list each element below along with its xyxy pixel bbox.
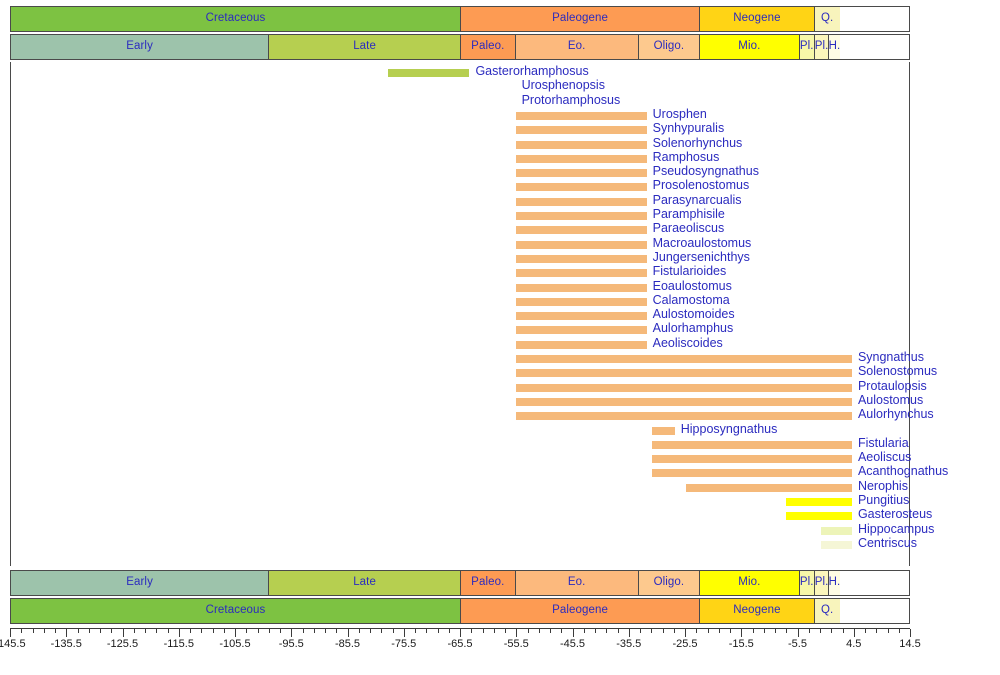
taxon-label: Hipposyngnathus — [681, 422, 778, 436]
axis-tick-minor — [224, 629, 225, 633]
taxon-range-row[interactable]: Pungitius — [11, 495, 909, 509]
epoch-label: Pl. — [800, 41, 814, 53]
taxon-range-row[interactable]: Solenorhynchus — [11, 138, 909, 152]
axis-tick-minor — [213, 629, 214, 633]
taxon-range-bar[interactable] — [516, 298, 647, 306]
epoch-label: Late — [353, 577, 376, 589]
taxon-range-row[interactable]: Acanthognathus — [11, 466, 909, 480]
taxon-range-bar[interactable] — [786, 498, 852, 506]
taxon-label: Hippocampus — [858, 522, 934, 536]
taxon-range-bar[interactable] — [516, 226, 647, 234]
axis-tick-major — [685, 629, 686, 637]
axis-tick-label: -15.5 — [729, 638, 754, 650]
axis-tick-minor — [33, 629, 34, 633]
axis-tick-minor — [505, 629, 506, 633]
taxon-range-row[interactable]: Protorhamphosus — [11, 95, 909, 109]
axis-tick-label: -45.5 — [560, 638, 585, 650]
epoch-label: Mio. — [738, 41, 760, 53]
taxon-label: Acanthognathus — [858, 464, 948, 478]
taxon-range-bar[interactable] — [652, 455, 852, 463]
taxon-range-row[interactable]: Solenostomus — [11, 366, 909, 380]
taxon-range-bar[interactable] — [516, 369, 852, 377]
epoch-label: H. — [829, 41, 841, 53]
taxon-range-row[interactable]: Synhypuralis — [11, 123, 909, 137]
taxon-label: Aulostomus — [858, 393, 923, 407]
taxon-range-bar[interactable] — [821, 541, 852, 549]
period-label: Cretaceous — [206, 13, 266, 25]
taxon-range-bar[interactable] — [516, 269, 647, 277]
axis-tick-minor — [201, 629, 202, 633]
axis-tick-major — [516, 629, 517, 637]
epoch-cell[interactable]: Pl. — [800, 571, 815, 595]
axis-tick-minor — [145, 629, 146, 633]
axis-tick-major — [66, 629, 67, 637]
taxon-range-row[interactable]: Aulorhamphus — [11, 323, 909, 337]
taxon-label: Macroaulostomus — [653, 236, 752, 250]
axis-tick-label: -55.5 — [504, 638, 529, 650]
epoch-label: H. — [829, 577, 841, 589]
period-cell[interactable]: Paleogene — [461, 599, 700, 623]
axis-tick-minor — [753, 629, 754, 633]
period-label: Q. — [821, 605, 833, 617]
epoch-label: Paleo. — [471, 577, 504, 589]
epoch-cell[interactable]: Late — [269, 571, 461, 595]
axis-tick-label: 4.5 — [846, 638, 861, 650]
taxon-label: Eoaulostomus — [653, 279, 732, 293]
period-strip-top: CretaceousPaleogeneNeogeneQ. — [10, 6, 910, 32]
taxon-range-row[interactable]: Ramphosus — [11, 152, 909, 166]
axis-tick-minor — [246, 629, 247, 633]
axis-tick-minor — [809, 629, 810, 633]
axis-tick-minor — [539, 629, 540, 633]
taxon-range-bar[interactable] — [652, 469, 852, 477]
taxon-label: Pseudosyngnathus — [653, 164, 759, 178]
taxon-label: Synhypuralis — [653, 121, 725, 135]
taxon-label: Aulostomoides — [653, 307, 735, 321]
axis-tick-label: -25.5 — [672, 638, 697, 650]
axis-tick-minor — [483, 629, 484, 633]
taxon-range-row[interactable]: Hippocampus — [11, 524, 909, 538]
axis-tick-label: -95.5 — [279, 638, 304, 650]
axis-tick-label: -115.5 — [164, 638, 194, 650]
epoch-label: Oligo. — [654, 41, 685, 53]
axis-tick-minor — [426, 629, 427, 633]
axis-tick-minor — [44, 629, 45, 633]
epoch-label: Eo. — [568, 577, 586, 589]
taxon-range-bar[interactable] — [516, 155, 647, 163]
taxon-range-bar[interactable] — [516, 341, 647, 349]
axis-tick-minor — [21, 629, 22, 633]
axis-tick-minor — [336, 629, 337, 633]
taxon-range-bar[interactable] — [516, 198, 647, 206]
epoch-strip-bottom: EarlyLatePaleo.Eo.Oligo.Mio.Pl.Pl.H. — [10, 570, 910, 596]
taxon-range-row[interactable]: Urosphenopsis — [11, 80, 909, 94]
taxon-range-bar[interactable] — [516, 255, 647, 263]
taxon-range-row[interactable]: Aulostomus — [11, 395, 909, 409]
period-cell[interactable]: Cretaceous — [11, 7, 461, 31]
taxon-label: Aulorhynchus — [858, 407, 934, 421]
taxon-range-row[interactable]: Gasterorhamphosus — [11, 66, 909, 80]
axis-tick-major — [348, 629, 349, 637]
taxon-label: Pungitius — [858, 493, 909, 507]
epoch-label: Paleo. — [471, 41, 504, 53]
axis-tick-minor — [876, 629, 877, 633]
axis-tick-minor — [314, 629, 315, 633]
axis-tick-minor — [258, 629, 259, 633]
taxon-range-row[interactable]: Paraeoliscus — [11, 223, 909, 237]
axis-tick-major — [910, 629, 911, 637]
taxon-range-bar[interactable] — [516, 355, 852, 363]
epoch-cell[interactable]: H. — [829, 35, 839, 59]
axis-tick-major — [404, 629, 405, 637]
epoch-label: Pl. — [815, 577, 829, 589]
axis-tick-minor — [55, 629, 56, 633]
axis-tick-label: -105.5 — [219, 638, 250, 650]
period-strip-bottom: CretaceousPaleogeneNeogeneQ. — [10, 598, 910, 624]
epoch-label: Early — [126, 577, 153, 589]
axis-tick-major — [235, 629, 236, 637]
epoch-cell[interactable]: Oligo. — [639, 35, 700, 59]
axis-tick-major — [573, 629, 574, 637]
axis-tick-label: 14.5 — [899, 638, 920, 650]
axis-tick-minor — [528, 629, 529, 633]
axis-tick-minor — [381, 629, 382, 633]
axis-tick-minor — [415, 629, 416, 633]
axis-tick-label: -75.5 — [391, 638, 416, 650]
axis-tick-major — [629, 629, 630, 637]
taxon-range-row[interactable]: Hipposyngnathus — [11, 424, 909, 438]
axis-tick-minor — [775, 629, 776, 633]
axis-tick-minor — [280, 629, 281, 633]
taxon-label: Protorhamphosus — [522, 93, 621, 107]
epoch-cell[interactable]: Mio. — [700, 571, 800, 595]
axis-tick-label: -125.5 — [107, 638, 138, 650]
epoch-cell[interactable]: Pl. — [800, 35, 815, 59]
period-label: Neogene — [733, 605, 780, 617]
period-cell[interactable]: Q. — [815, 7, 840, 31]
epoch-cell[interactable]: Oligo. — [639, 571, 700, 595]
epoch-cell[interactable]: H. — [829, 571, 839, 595]
axis-tick-minor — [831, 629, 832, 633]
taxon-range-row[interactable]: Centriscus — [11, 538, 909, 552]
taxon-range-bar[interactable] — [516, 412, 852, 420]
axis-tick-minor — [674, 629, 675, 633]
taxon-label: Calamostoma — [653, 293, 730, 307]
taxon-label: Solenostomus — [858, 364, 937, 378]
epoch-cell[interactable]: Eo. — [516, 35, 639, 59]
taxon-range-bar[interactable] — [516, 212, 647, 220]
axis-tick-minor — [595, 629, 596, 633]
taxon-range-row[interactable]: Syngnathus — [11, 352, 909, 366]
axis-tick-minor — [865, 629, 866, 633]
axis-tick-minor — [719, 629, 720, 633]
time-axis — [10, 628, 910, 636]
taxon-label: Ramphosus — [653, 150, 720, 164]
axis-tick-minor — [730, 629, 731, 633]
period-label: Neogene — [733, 13, 780, 25]
axis-tick-major — [741, 629, 742, 637]
axis-tick-minor — [888, 629, 889, 633]
axis-tick-minor — [640, 629, 641, 633]
taxon-range-row[interactable]: Jungersenichthys — [11, 252, 909, 266]
axis-tick-major — [123, 629, 124, 637]
taxon-range-bar[interactable] — [516, 241, 647, 249]
taxon-range-row[interactable]: Protaulopsis — [11, 381, 909, 395]
taxon-range-bar[interactable] — [786, 512, 852, 520]
axis-tick-minor — [786, 629, 787, 633]
axis-tick-minor — [561, 629, 562, 633]
axis-tick-label: -145.5 — [0, 638, 26, 650]
epoch-cell[interactable]: Mio. — [700, 35, 800, 59]
taxon-range-bar[interactable] — [516, 126, 647, 134]
axis-tick-major — [179, 629, 180, 637]
taxon-range-row[interactable]: Gasterosteus — [11, 509, 909, 523]
axis-tick-label: -135.5 — [51, 638, 82, 650]
taxon-range-bar[interactable] — [516, 312, 647, 320]
axis-tick-major — [10, 629, 11, 637]
axis-tick-minor — [820, 629, 821, 633]
period-cell[interactable]: Cretaceous — [11, 599, 461, 623]
taxon-label: Aulorhamphus — [653, 321, 734, 335]
axis-tick-minor — [190, 629, 191, 633]
axis-tick-label: -85.5 — [335, 638, 360, 650]
taxon-label: Jungersenichthys — [653, 250, 750, 264]
axis-tick-minor — [618, 629, 619, 633]
taxon-range-row[interactable]: Aeoliscus — [11, 452, 909, 466]
axis-tick-minor — [134, 629, 135, 633]
epoch-label: Eo. — [568, 41, 586, 53]
taxon-label: Urosphen — [653, 107, 707, 121]
period-label: Paleogene — [552, 13, 608, 25]
taxon-range-row[interactable]: Eoaulostomus — [11, 281, 909, 295]
taxon-label: Paraeoliscus — [653, 221, 725, 235]
axis-tick-minor — [651, 629, 652, 633]
period-cell[interactable]: Neogene — [700, 599, 815, 623]
period-cell[interactable]: Paleogene — [461, 7, 700, 31]
taxon-range-row[interactable]: Paramphisile — [11, 209, 909, 223]
taxon-label: Urosphenopsis — [522, 78, 605, 92]
axis-tick-minor — [168, 629, 169, 633]
taxon-range-row[interactable]: Urosphen — [11, 109, 909, 123]
taxon-range-bar[interactable] — [516, 183, 647, 191]
taxon-label: Fistularioides — [653, 264, 727, 278]
epoch-cell[interactable]: Paleo. — [461, 35, 516, 59]
axis-tick-major — [291, 629, 292, 637]
period-label: Paleogene — [552, 605, 608, 617]
period-label: Q. — [821, 13, 833, 25]
epoch-strip-top: EarlyLatePaleo.Eo.Oligo.Mio.Pl.Pl.H. — [10, 34, 910, 60]
taxon-range-bar[interactable] — [516, 141, 647, 149]
epoch-cell[interactable]: Pl. — [815, 571, 830, 595]
epoch-label: Early — [126, 41, 153, 53]
taxon-range-bar[interactable] — [516, 384, 852, 392]
axis-tick-minor — [584, 629, 585, 633]
axis-tick-minor — [471, 629, 472, 633]
epoch-cell[interactable]: Early — [11, 35, 269, 59]
taxon-label: Fistularia — [858, 436, 909, 450]
taxon-range-bar[interactable] — [388, 69, 470, 77]
axis-tick-minor — [393, 629, 394, 633]
axis-tick-minor — [111, 629, 112, 633]
taxon-range-row[interactable]: Aulostomoides — [11, 309, 909, 323]
axis-tick-minor — [303, 629, 304, 633]
taxon-label: Gasterorhamphosus — [475, 64, 588, 78]
axis-tick-minor — [663, 629, 664, 633]
axis-tick-minor — [696, 629, 697, 633]
taxon-range-row[interactable]: Aeoliscoides — [11, 338, 909, 352]
axis-tick-major — [798, 629, 799, 637]
axis-tick-minor — [843, 629, 844, 633]
taxon-label: Syngnathus — [858, 350, 924, 364]
taxon-range-bar[interactable] — [516, 284, 647, 292]
taxon-label: Gasterosteus — [858, 507, 932, 521]
taxon-range-bar[interactable] — [652, 441, 852, 449]
axis-tick-minor — [359, 629, 360, 633]
taxon-range-row[interactable]: Fistularia — [11, 438, 909, 452]
epoch-label: Pl. — [815, 41, 829, 53]
epoch-label: Mio. — [738, 577, 760, 589]
taxon-range-bar[interactable] — [516, 112, 647, 120]
axis-tick-minor — [606, 629, 607, 633]
taxon-label: Aeoliscoides — [653, 336, 723, 350]
taxon-label: Prosolenostomus — [653, 178, 750, 192]
axis-tick-label: -5.5 — [788, 638, 807, 650]
axis-tick-major — [854, 629, 855, 637]
epoch-cell[interactable]: Eo. — [516, 571, 639, 595]
epoch-label: Late — [353, 41, 376, 53]
taxon-label: Centriscus — [858, 536, 917, 550]
axis-tick-minor — [325, 629, 326, 633]
taxon-range-row[interactable]: Prosolenostomus — [11, 180, 909, 194]
taxon-range-row[interactable]: Parasynarcualis — [11, 195, 909, 209]
axis-tick-minor — [100, 629, 101, 633]
taxon-label: Nerophis — [858, 479, 908, 493]
taxon-range-row[interactable]: Nerophis — [11, 481, 909, 495]
axis-tick-minor — [550, 629, 551, 633]
axis-tick-minor — [899, 629, 900, 633]
taxon-label: Protaulopsis — [858, 379, 927, 393]
axis-tick-minor — [269, 629, 270, 633]
epoch-cell[interactable]: Pl. — [815, 35, 830, 59]
period-label: Cretaceous — [206, 605, 266, 617]
axis-tick-minor — [494, 629, 495, 633]
taxon-range-bar[interactable] — [686, 484, 852, 492]
period-cell[interactable]: Neogene — [700, 7, 815, 31]
axis-tick-minor — [449, 629, 450, 633]
taxon-range-bar[interactable] — [821, 527, 852, 535]
epoch-label: Oligo. — [654, 577, 685, 589]
axis-tick-minor — [78, 629, 79, 633]
taxon-range-row[interactable]: Pseudosyngnathus — [11, 166, 909, 180]
taxon-label: Paramphisile — [653, 207, 725, 221]
taxon-label: Parasynarcualis — [653, 193, 742, 207]
period-cell[interactable]: Q. — [815, 599, 840, 623]
taxon-range-bar[interactable] — [516, 398, 852, 406]
axis-tick-minor — [764, 629, 765, 633]
epoch-label: Pl. — [800, 577, 814, 589]
axis-tick-minor — [438, 629, 439, 633]
axis-tick-minor — [370, 629, 371, 633]
taxon-range-row[interactable]: Macroaulostomus — [11, 238, 909, 252]
axis-tick-minor — [708, 629, 709, 633]
taxon-range-row[interactable]: Calamostoma — [11, 295, 909, 309]
epoch-cell[interactable]: Late — [269, 35, 461, 59]
epoch-cell[interactable]: Early — [11, 571, 269, 595]
stratigraphic-range-chart: CretaceousPaleogeneNeogeneQ. EarlyLatePa… — [0, 0, 1000, 675]
axis-tick-minor — [156, 629, 157, 633]
taxon-label: Aeoliscus — [858, 450, 912, 464]
epoch-cell[interactable]: Paleo. — [461, 571, 516, 595]
taxon-range-bar[interactable] — [516, 326, 647, 334]
axis-tick-minor — [89, 629, 90, 633]
axis-tick-label: -65.5 — [447, 638, 472, 650]
axis-tick-label: -35.5 — [616, 638, 641, 650]
axis-tick-major — [460, 629, 461, 637]
taxon-range-bar[interactable] — [516, 169, 647, 177]
range-plot-area: GasterorhamphosusUrosphenopsisProtorhamp… — [10, 62, 910, 566]
taxon-label: Solenorhynchus — [653, 136, 743, 150]
taxon-range-bar[interactable] — [652, 427, 675, 435]
taxon-range-row[interactable]: Fistularioides — [11, 266, 909, 280]
